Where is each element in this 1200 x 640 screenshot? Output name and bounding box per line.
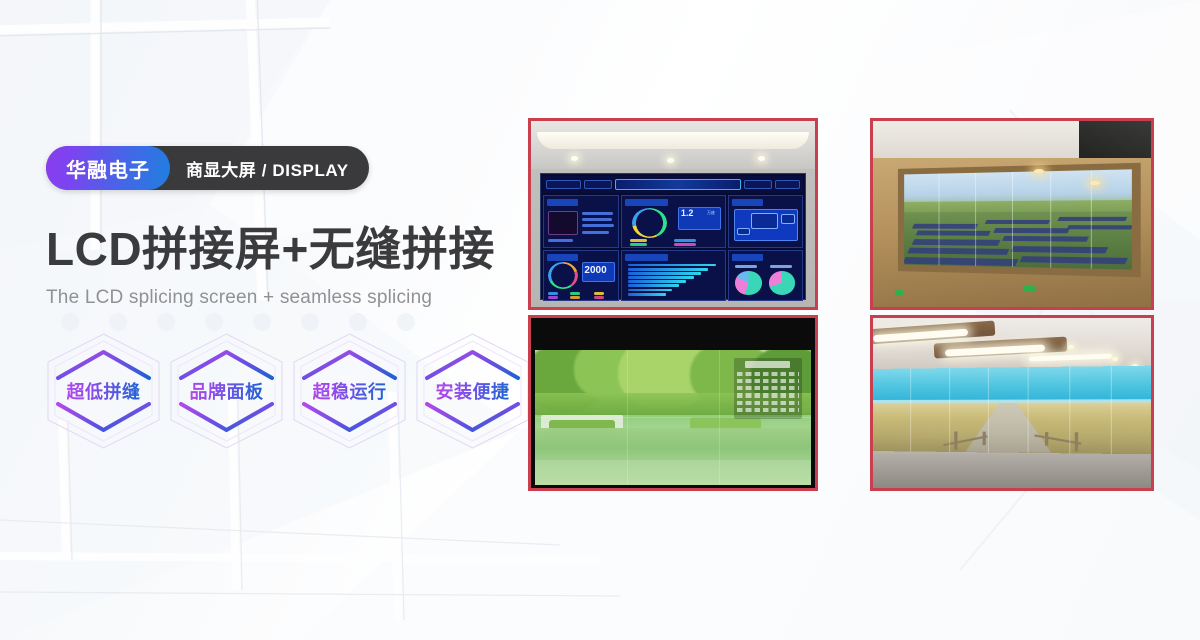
brand-badge-name: 华融电子 bbox=[46, 146, 170, 190]
dashboard-screen: 1.2 万座 bbox=[540, 173, 807, 299]
metric-unit: 万座 bbox=[707, 210, 715, 216]
feature-item-1: 品牌面板 bbox=[167, 332, 286, 450]
feature-hexagon-row: 超低拼缝 品牌面板 超稳运行 bbox=[44, 332, 532, 450]
metric-count: 2000 bbox=[584, 266, 606, 276]
page-title: LCD拼接屏+无缝拼接 bbox=[46, 226, 566, 274]
photo-control-room-dashboard: 1.2 万座 bbox=[528, 118, 818, 310]
dashboard-metric-card: 1.2 万座 bbox=[621, 195, 727, 248]
feature-label: 超稳运行 bbox=[313, 378, 387, 404]
exit-sign-icon bbox=[895, 290, 903, 296]
dashboard-bar-chart bbox=[621, 250, 727, 301]
feature-label: 超低拼缝 bbox=[67, 378, 141, 404]
exit-sign-icon bbox=[1023, 285, 1035, 292]
beach-boardwalk-screen bbox=[873, 366, 1151, 454]
feature-item-3: 安装便捷 bbox=[413, 332, 532, 450]
calendar-widget bbox=[734, 358, 803, 418]
willow-lake-screen bbox=[535, 350, 810, 484]
page-subtitle: The LCD splicing screen + seamless splic… bbox=[46, 287, 566, 309]
photo-willow-lake-wall bbox=[528, 315, 818, 491]
feature-label: 安装便捷 bbox=[436, 378, 510, 404]
dashboard-pie-charts bbox=[728, 250, 803, 301]
photo-beach-boardwalk-wall bbox=[870, 315, 1154, 491]
brand-badge-category: 商显大屏 / DISPLAY bbox=[170, 146, 367, 190]
feature-label: 品牌面板 bbox=[190, 378, 264, 404]
feature-item-2: 超稳运行 bbox=[290, 332, 409, 450]
photo-solar-farm-wall bbox=[870, 118, 1154, 310]
solar-wall-frame bbox=[898, 162, 1140, 276]
product-banner: 华融电子 商显大屏 / DISPLAY LCD拼接屏+无缝拼接 The LCD … bbox=[0, 0, 1200, 640]
metric-value: 1.2 bbox=[681, 209, 694, 218]
brand-badge: 华融电子 商显大屏 / DISPLAY bbox=[46, 146, 369, 190]
headline-block: 华融电子 商显大屏 / DISPLAY LCD拼接屏+无缝拼接 The LCD … bbox=[46, 146, 566, 309]
feature-item-0: 超低拼缝 bbox=[44, 332, 163, 450]
